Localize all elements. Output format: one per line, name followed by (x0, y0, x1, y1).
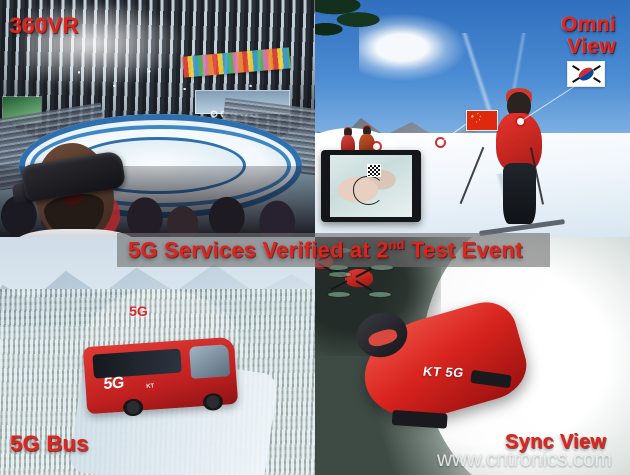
site-watermark: www.cntronics.com (437, 449, 612, 470)
banner-text-before: 5G Services Verified at 2 (128, 237, 389, 262)
bobsled-livery-text: KT 5G (422, 365, 465, 379)
banner-ordinal-suffix: nd (389, 237, 405, 252)
course-map-tablet[interactable] (321, 150, 421, 222)
chinese-flag-icon[interactable] (467, 111, 497, 130)
label-omni-line1: Omni (561, 14, 616, 36)
trigram-bottom-left (572, 77, 580, 83)
label-omni-line2: View (561, 36, 616, 58)
label-omni-view: Omni View (561, 14, 616, 58)
skier-legs (503, 163, 536, 224)
label-360vr: 360VR (10, 14, 79, 37)
banner-headline: 5G Services Verified at 2nd Test Event (128, 238, 523, 263)
bobsled-runner-rear (391, 410, 447, 429)
banner-text-after: Test Event (405, 237, 523, 262)
foreground-pine-branch (315, 0, 410, 66)
taeguk-symbol (576, 65, 595, 83)
drone-arm-4 (330, 280, 347, 290)
label-5g-bus: 5G Bus (10, 432, 89, 455)
bus-icon: 5G KT (83, 337, 238, 414)
drone-propeller-4 (369, 292, 391, 297)
bus-windshield (189, 344, 230, 379)
bus-livery-text: 5G (103, 375, 124, 392)
course-route-path (353, 176, 385, 205)
vr-headset-icon (13, 123, 139, 237)
korean-flag-icon[interactable] (568, 62, 604, 86)
trigram-top-right (593, 65, 601, 71)
bus-brand-text: KT (146, 383, 154, 390)
athlete-marker-far[interactable] (373, 143, 380, 150)
promo-poster: 5G 5G KT KT 5G (0, 0, 630, 475)
tablet-screen[interactable] (330, 155, 412, 217)
trigram-top-left (572, 65, 580, 71)
checkered-flag-icon (368, 165, 380, 176)
trigram-bottom-right (593, 77, 601, 83)
overlay-5g-tag: 5G (129, 304, 148, 318)
drone-propeller-2 (329, 272, 351, 277)
